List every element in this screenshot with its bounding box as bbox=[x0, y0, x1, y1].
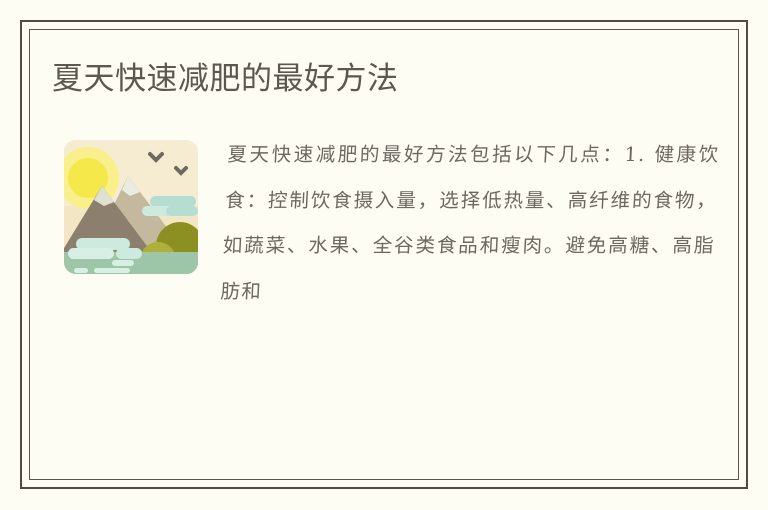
article-body: 夏天快速减肥的最好方法包括以下几点：1. 健康饮食：控制饮食摄入量，选择低热量、… bbox=[52, 132, 716, 315]
landscape-thumbnail bbox=[54, 134, 206, 286]
page-title: 夏天快速减肥的最好方法 bbox=[52, 60, 716, 99]
article-excerpt: 夏天快速减肥的最好方法包括以下几点：1. 健康饮食：控制饮食摄入量，选择低热量、… bbox=[219, 132, 721, 315]
article-page: 夏天快速减肥的最好方法 bbox=[0, 0, 768, 510]
article-content: 夏天快速减肥的最好方法 bbox=[52, 52, 716, 458]
landscape-illustration-icon bbox=[54, 134, 206, 286]
